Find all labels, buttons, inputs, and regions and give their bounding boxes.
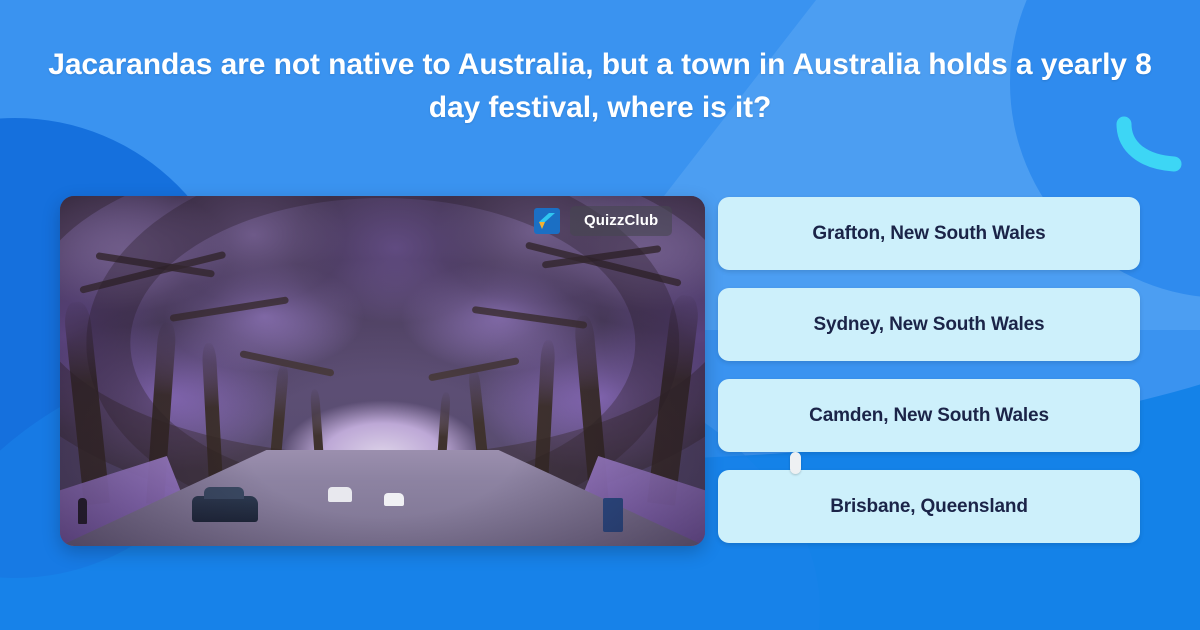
question-image: QuizzClub (60, 196, 705, 546)
image-parked-car (192, 496, 258, 522)
answer-option-2[interactable]: Sydney, New South Wales (718, 288, 1140, 361)
image-white-car-far (384, 493, 404, 506)
answer-option-3-label: Camden, New South Wales (809, 405, 1049, 427)
image-white-car-near (328, 487, 352, 502)
watermark-brand-label: QuizzClub (570, 206, 672, 236)
quiz-card: Jacarandas are not native to Australia, … (0, 0, 1200, 630)
watermark: QuizzClub (532, 206, 672, 236)
answer-options-list: Grafton, New South Wales Sydney, New Sou… (718, 197, 1140, 543)
scroll-thumb-marker[interactable] (790, 452, 801, 474)
answer-option-4[interactable]: Brisbane, Queensland (718, 470, 1140, 543)
answer-option-3[interactable]: Camden, New South Wales (718, 379, 1140, 452)
graduation-cap-icon (532, 206, 562, 236)
image-wheelie-bin (603, 498, 623, 532)
answer-option-1[interactable]: Grafton, New South Wales (718, 197, 1140, 270)
image-pedestrian (78, 498, 87, 524)
question-text: Jacarandas are not native to Australia, … (0, 44, 1200, 129)
answer-option-4-label: Brisbane, Queensland (830, 496, 1028, 518)
answer-option-2-label: Sydney, New South Wales (814, 314, 1045, 336)
answer-option-1-label: Grafton, New South Wales (812, 223, 1045, 245)
